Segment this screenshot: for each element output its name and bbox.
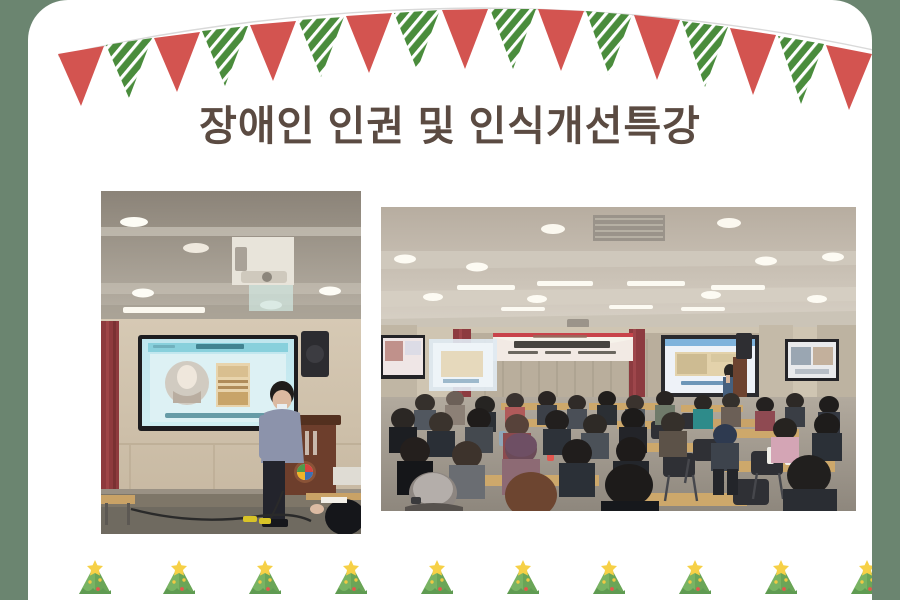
bunting-flag-red: [634, 15, 680, 80]
bunting-flag-green: [586, 11, 632, 75]
bunting-cord: [58, 8, 872, 56]
bunting-flag-green: [394, 10, 440, 70]
photo-lecture-presenter: [101, 191, 361, 534]
photo-audience-hall: [381, 207, 856, 511]
bunting-flag-red: [346, 13, 392, 73]
bunting-flag-red: [442, 9, 488, 69]
bunting-flag-red: [250, 21, 296, 81]
christmas-tree-border: [28, 554, 872, 600]
bunting-flag-green: [682, 21, 728, 87]
poster-title: 장애인 인권 및 인식개선특강: [28, 92, 872, 152]
bunting-flag-red: [730, 28, 776, 95]
bunting-flag-red: [154, 32, 200, 92]
bunting-flag-green: [106, 38, 152, 98]
bunting-flag-green: [490, 9, 536, 69]
bunting-flag-green: [202, 26, 248, 86]
bunting-flag-red: [538, 9, 584, 71]
bunting-flag-green: [298, 17, 344, 77]
poster-root: 장애인 인권 및 인식개선특강: [0, 0, 900, 600]
christmas-tree-icon: [79, 560, 872, 594]
poster-card: 장애인 인권 및 인식개선특강: [28, 0, 872, 600]
